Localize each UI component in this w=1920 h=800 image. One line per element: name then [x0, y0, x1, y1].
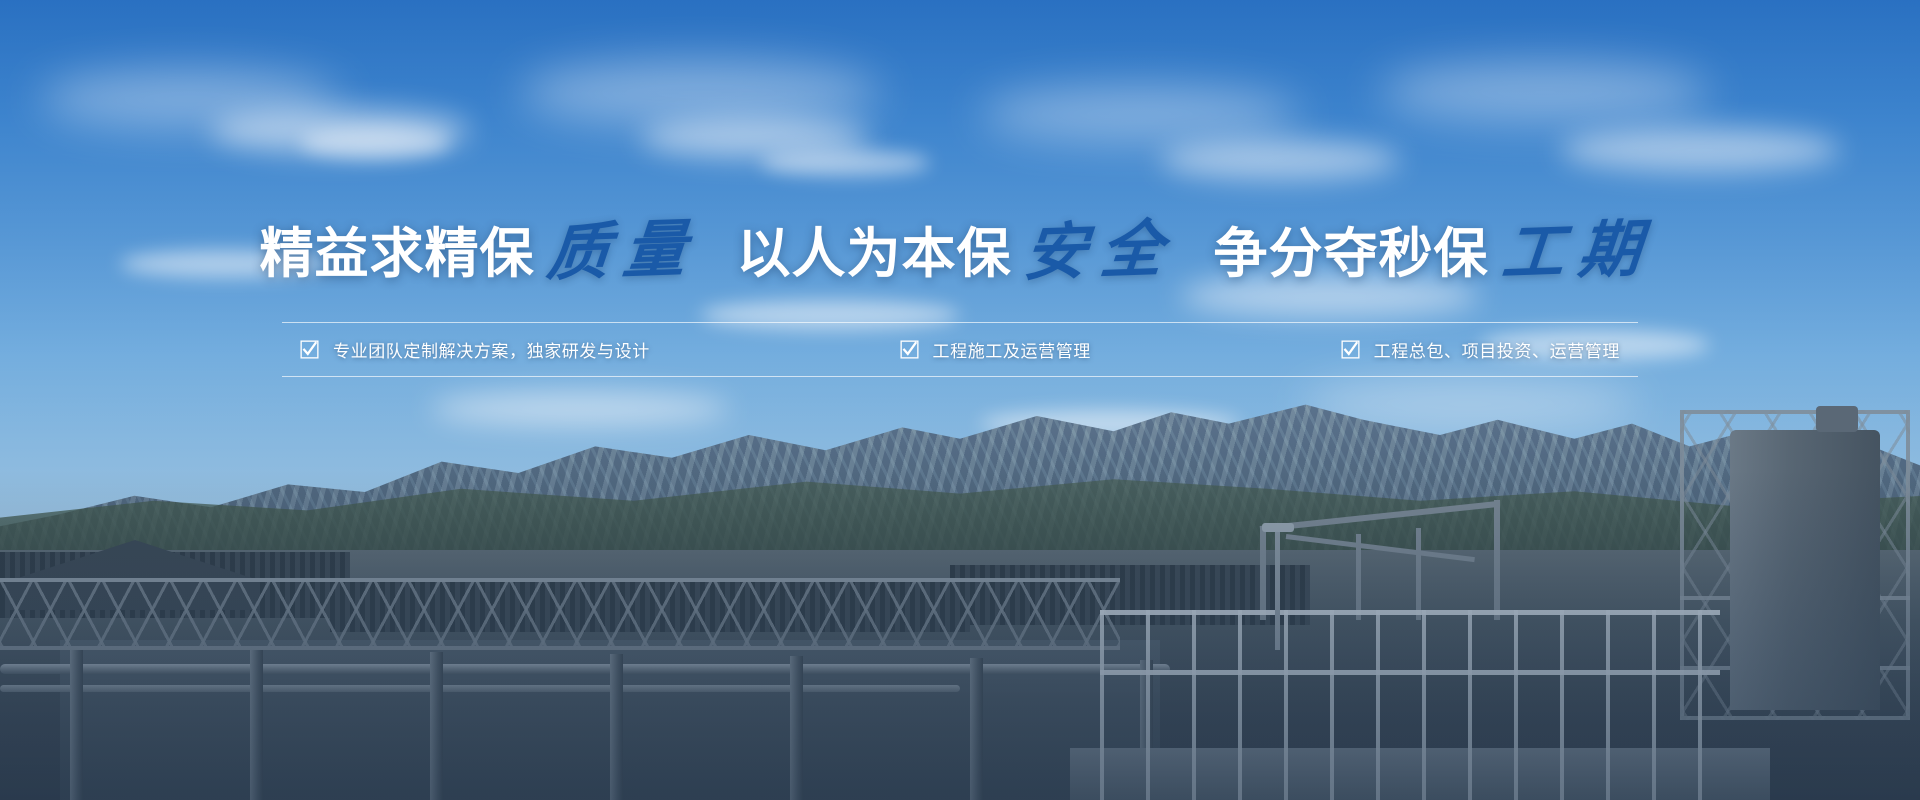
headline-segment-2: 以人为本保 安全: [736, 200, 1183, 290]
checkbox-checked-icon: [1341, 340, 1360, 359]
headline-accent-3: 工期: [1492, 197, 1665, 293]
divider-bottom: [282, 376, 1638, 377]
feature-item-1[interactable]: 专业团队定制解决方案，独家研发与设计: [300, 337, 650, 362]
feature-label-1: 专业团队定制解决方案，独家研发与设计: [333, 337, 650, 362]
checkbox-checked-icon: [300, 340, 319, 359]
feature-label-2: 工程施工及运营管理: [933, 337, 1091, 362]
headline-accent-2: 安全: [1015, 197, 1188, 293]
headline-plain-1: 精益求精保: [259, 209, 534, 288]
headline-plain-3: 争分夺秒保: [1214, 209, 1489, 288]
feature-label-3: 工程总包、项目投资、运营管理: [1374, 337, 1620, 362]
feature-list: 专业团队定制解决方案，独家研发与设计 工程施工及运营管理 工程总包、项目投资、运…: [282, 322, 1638, 376]
headline-segment-1: 精益求精保 质量: [259, 200, 706, 290]
headline-plain-2: 以人为本保: [736, 209, 1011, 288]
hero-banner: 精益求精保 质量 以人为本保 安全 争分夺秒保 工期 专业团队定制解决方案，独家…: [0, 0, 1920, 800]
headline-accent-1: 质量: [538, 197, 711, 293]
checkbox-checked-icon: [900, 340, 919, 359]
feature-item-2[interactable]: 工程施工及运营管理: [900, 337, 1091, 362]
headline: 精益求精保 质量 以人为本保 安全 争分夺秒保 工期: [0, 200, 1920, 290]
feature-item-3[interactable]: 工程总包、项目投资、运营管理: [1341, 337, 1620, 362]
banner-text-overlay: 精益求精保 质量 以人为本保 安全 争分夺秒保 工期 专业团队定制解决方案，独家…: [0, 0, 1920, 800]
headline-segment-3: 争分夺秒保 工期: [1214, 200, 1661, 290]
